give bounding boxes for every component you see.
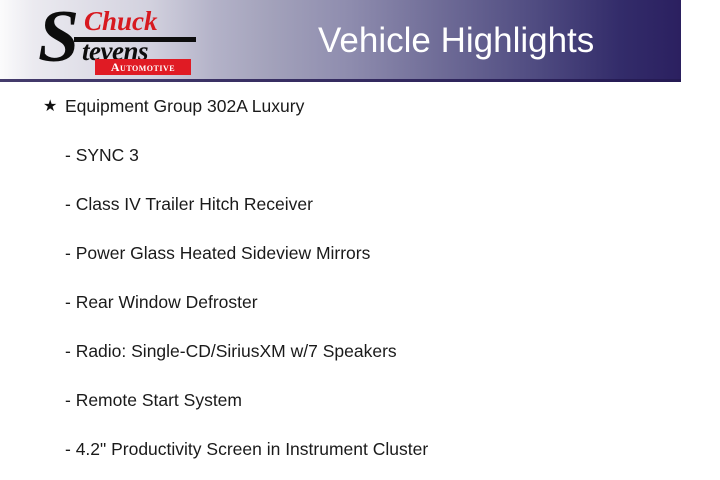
header-banner: S Chuck tevens Automotive Vehicle Highli… [0,0,681,82]
highlight-item: - Remote Start System [0,376,720,425]
highlight-item-label: - 4.2" Productivity Screen in Instrument… [65,425,428,474]
highlight-item: - SYNC 3 [0,131,720,180]
logo-monogram-s: S [38,0,77,74]
highlight-item-label: - Radio: Single-CD/SiriusXM w/7 Speakers [65,327,397,376]
highlight-item: ★Equipment Group 302A Luxury [0,82,720,131]
highlight-item-label: - Remote Start System [65,376,242,425]
highlight-item-label: - SYNC 3 [65,131,139,180]
vehicle-highlights-slide: { "banner": { "title": "Vehicle Highligh… [0,0,720,480]
highlight-item: - Radio: Single-CD/SiriusXM w/7 Speakers [0,327,720,376]
highlight-item-label: Equipment Group 302A Luxury [65,82,304,131]
highlight-item-label: - Power Glass Heated Sideview Mirrors [65,229,370,278]
highlight-item-label: - Class IV Trailer Hitch Receiver [65,180,313,229]
logo-automotive-bar: Automotive [95,59,191,75]
highlight-item: - Rear Window Defroster [0,278,720,327]
highlight-item-label: - Rear Window Defroster [65,278,258,327]
dealer-logo: S Chuck tevens Automotive [36,4,198,78]
logo-tagline: Automotive [95,59,191,75]
page-title: Vehicle Highlights [318,18,594,64]
star-bullet-icon: ★ [43,82,57,131]
logo-brand-chuck: Chuck [84,8,158,35]
highlight-item: - Power Glass Heated Sideview Mirrors [0,229,720,278]
highlight-item: - 4.2" Productivity Screen in Instrument… [0,425,720,474]
highlight-item: - Class IV Trailer Hitch Receiver [0,180,720,229]
highlights-list: ★Equipment Group 302A Luxury- SYNC 3- Cl… [0,82,720,474]
